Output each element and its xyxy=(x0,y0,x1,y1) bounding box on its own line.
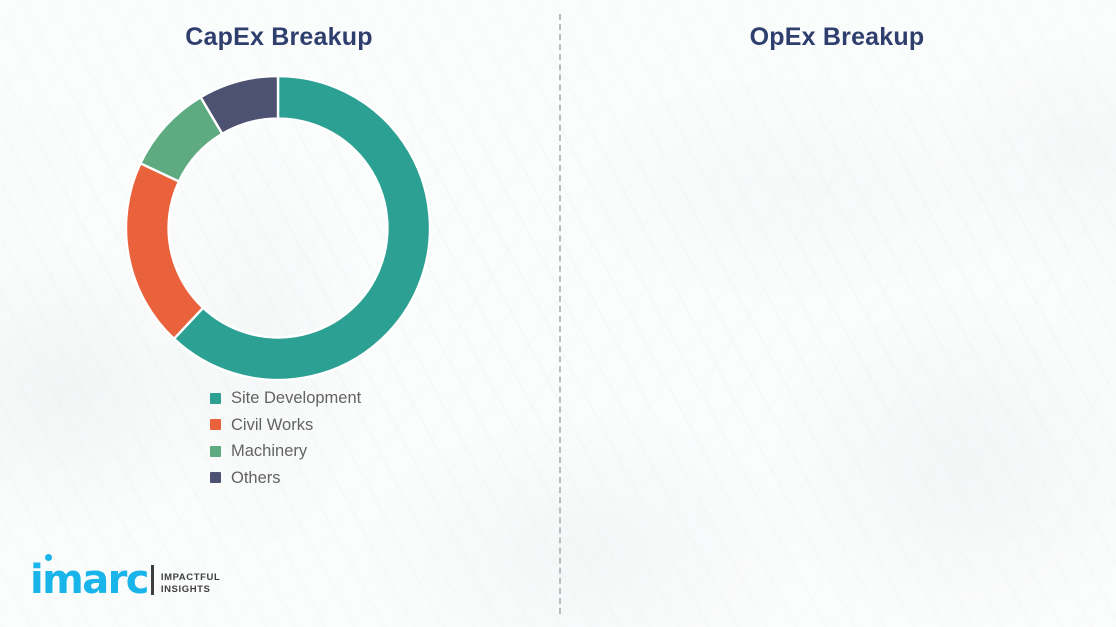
panel-opex: OpEx Breakup Raw MaterialsSalaries and W… xyxy=(558,0,1116,627)
legend-capex: Site DevelopmentCivil WorksMachineryOthe… xyxy=(210,390,361,496)
logo-dot-icon xyxy=(45,554,52,561)
panel-capex: CapEx Breakup Site DevelopmentCivil Work… xyxy=(0,0,558,627)
logo-divider-bar xyxy=(151,565,154,595)
logo-tagline-line1: IMPACTFUL xyxy=(161,572,221,584)
page-title-capex: CapEx Breakup xyxy=(0,23,558,52)
legend-swatch-icon xyxy=(210,419,221,430)
legend-label: Machinery xyxy=(231,443,307,460)
logo-wordmark: imarc xyxy=(30,563,148,598)
legend-label: Civil Works xyxy=(231,417,313,434)
donut-chart-capex xyxy=(125,75,431,381)
legend-label: Site Development xyxy=(231,390,361,407)
slide-canvas: CapEx Breakup Site DevelopmentCivil Work… xyxy=(0,0,1116,627)
imarc-logo: imarc IMPACTFUL INSIGHTS xyxy=(30,563,220,598)
logo-tagline-line2: INSIGHTS xyxy=(161,584,221,596)
logo-tagline: IMPACTFUL INSIGHTS xyxy=(161,572,221,598)
legend-item[interactable]: Site Development xyxy=(210,390,361,407)
legend-item[interactable]: Civil Works xyxy=(210,417,361,434)
legend-item[interactable]: Machinery xyxy=(210,443,361,460)
legend-swatch-icon xyxy=(210,446,221,457)
legend-label: Others xyxy=(231,470,281,487)
legend-swatch-icon xyxy=(210,472,221,483)
donut-slice xyxy=(126,163,203,339)
donut-svg-capex xyxy=(125,75,431,381)
page-title-opex: OpEx Breakup xyxy=(558,23,1116,52)
legend-item[interactable]: Others xyxy=(210,470,361,487)
legend-swatch-icon xyxy=(210,393,221,404)
